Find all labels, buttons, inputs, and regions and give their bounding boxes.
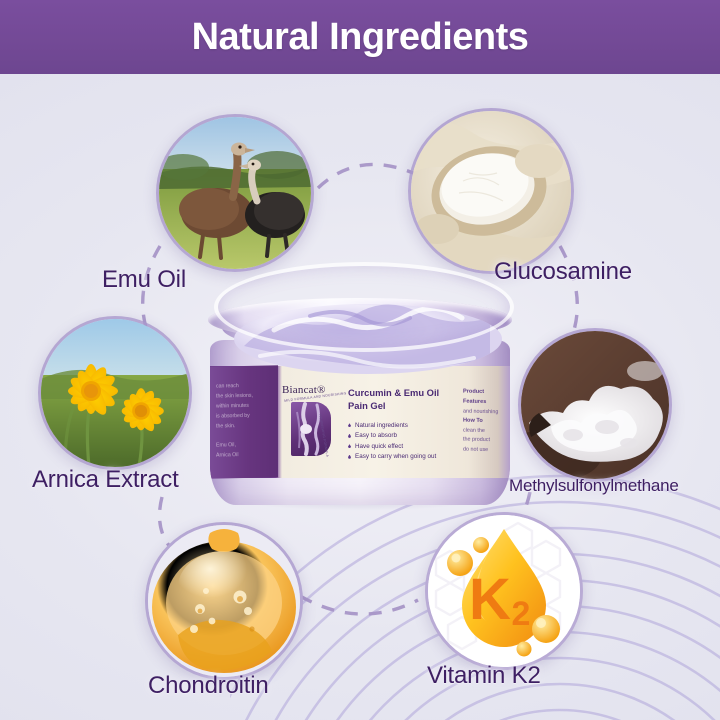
benefit-item: Easy to absorb	[348, 431, 466, 441]
benefit-item: Easy to carry when going out	[348, 452, 466, 462]
ingredients-infographic: Natural Ingredients	[0, 0, 720, 720]
product-benefits-list: Natural ingredients Easy to absorb Have …	[348, 421, 466, 463]
ingredient-label-vitamin-k2: Vitamin K2	[427, 662, 541, 690]
ingredient-image-vitamin-k2: K 2	[425, 512, 583, 670]
right-panel-heading-howto: How To	[463, 417, 506, 428]
ingredient-image-arnica	[38, 316, 192, 470]
jar-glass-rim-highlight	[214, 262, 514, 352]
ingredient-image-emu-oil	[156, 114, 314, 272]
ingredient-image-chondroitin	[145, 522, 303, 680]
product-title: Curcumin & Emu Oil Pain Gel	[348, 387, 460, 412]
ingredient-label-chondroitin: Chondroitin	[148, 672, 269, 700]
header-band: Natural Ingredients	[0, 0, 720, 74]
svg-text:K: K	[469, 567, 511, 632]
benefit-item: Natural ingredients	[348, 421, 466, 431]
product-jar: can reach the skin lesions, within minut…	[200, 262, 520, 510]
ingredient-label-msm: Methylsulfonylmethane	[509, 476, 679, 496]
brand-block: Biancat® MILD FORMULA AND NOURISHING NOU…	[282, 384, 344, 464]
jar-label: can reach the skin lesions, within minut…	[210, 366, 510, 478]
label-left-panel: can reach the skin lesions, within minut…	[210, 365, 278, 478]
ingredient-image-glucosamine	[408, 108, 574, 274]
product-title-line1: Curcumin & Emu Oil	[348, 387, 460, 400]
ingredient-label-arnica-extract: Arnica Extract	[32, 466, 179, 494]
label-center: Biancat® MILD FORMULA AND NOURISHING NOU…	[280, 366, 458, 478]
svg-text:2: 2	[512, 595, 531, 633]
product-title-line2: Pain Gel	[348, 400, 460, 413]
benefit-item: Have quick effect	[348, 442, 466, 452]
ingredient-label-emu-oil: Emu Oil	[102, 266, 186, 294]
right-panel-heading-product: Product	[463, 388, 506, 399]
ingredient-image-msm	[518, 328, 672, 482]
label-right-panel: Product Features and nourishing How To c…	[458, 366, 510, 479]
page-title: Natural Ingredients	[192, 16, 529, 59]
right-panel-body-howto: clean the the product do not use	[463, 427, 490, 452]
right-panel-heading-features: Features	[463, 397, 506, 408]
right-panel-body-features: and nourishing	[463, 408, 498, 415]
